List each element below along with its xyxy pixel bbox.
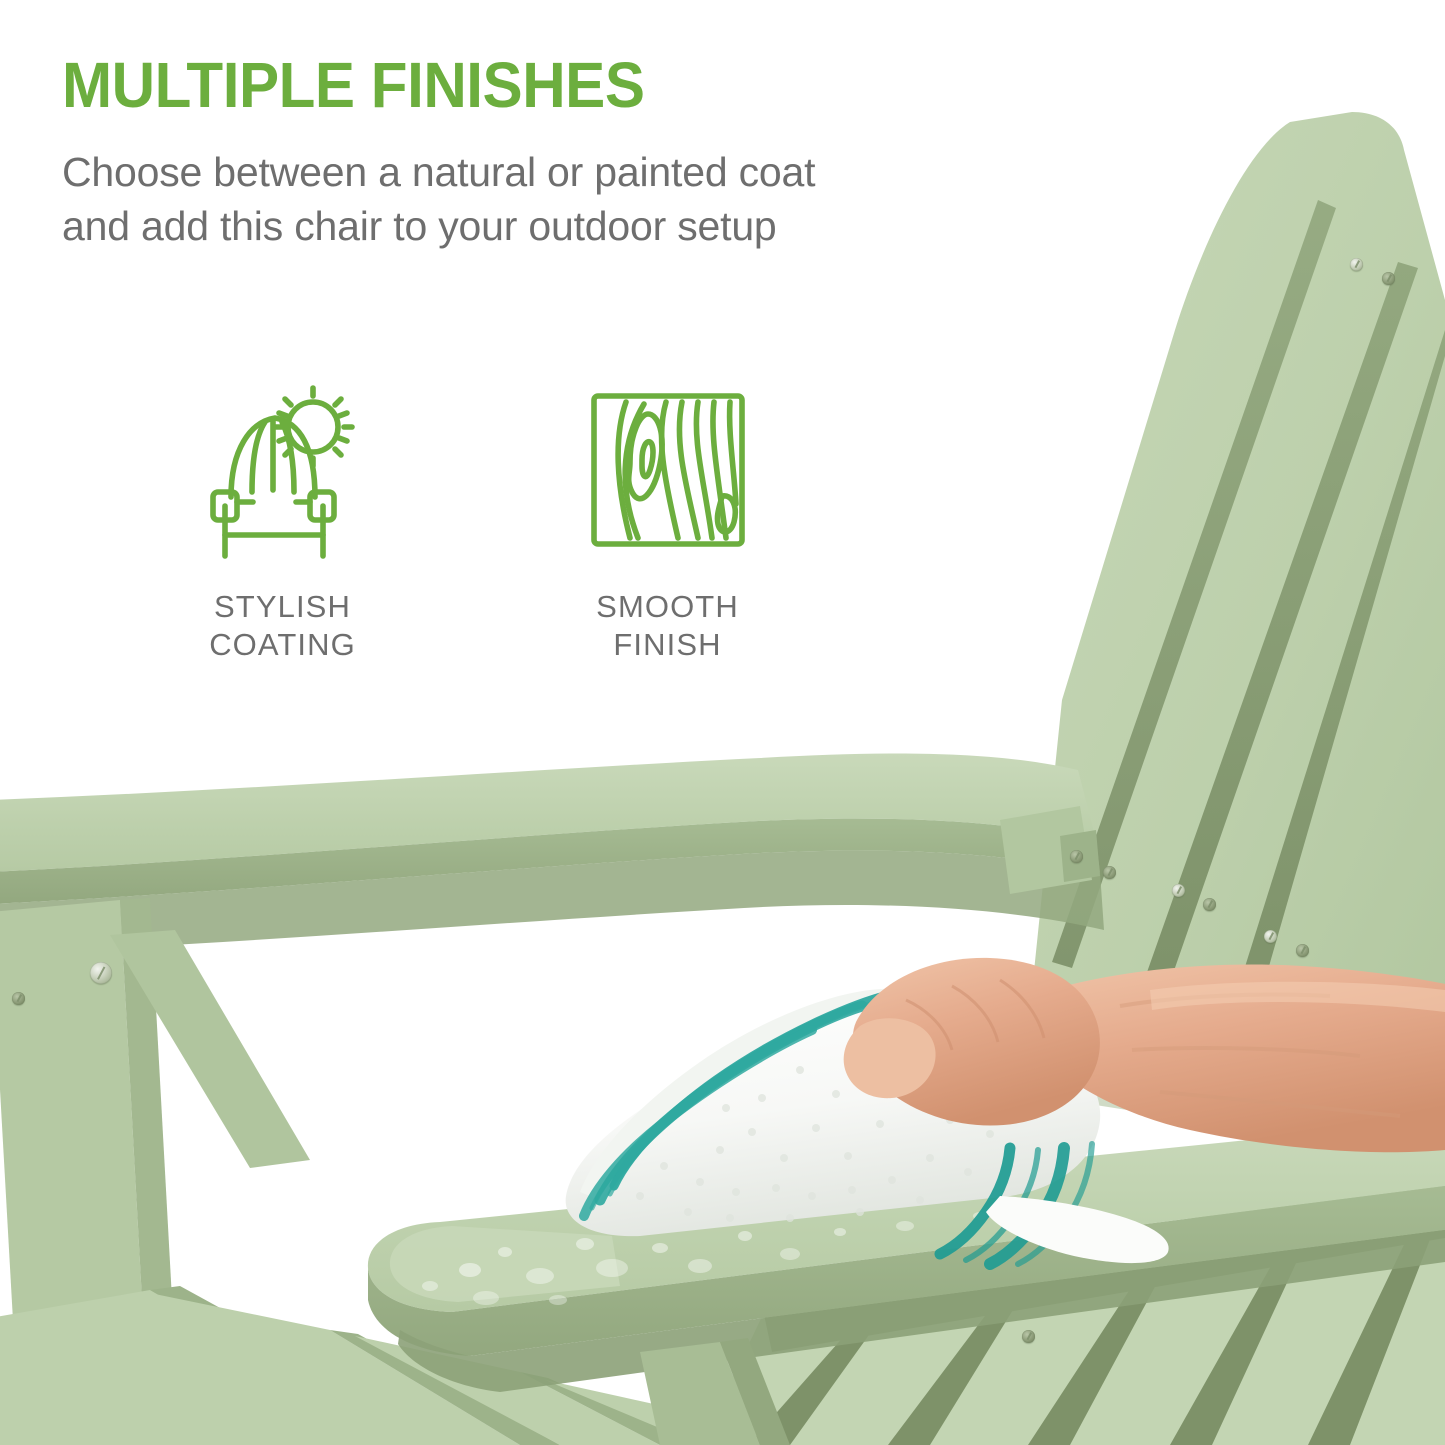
chair-back xyxy=(1030,112,1445,1080)
feature-caption-line-1: STYLISH xyxy=(209,588,356,626)
screw-head xyxy=(1382,272,1395,285)
screw-head xyxy=(1203,898,1216,911)
headline-block: MULTIPLE FINISHES Choose between a natur… xyxy=(62,52,1142,253)
feature-caption-line-2: FINISH xyxy=(596,626,739,664)
page-title: MULTIPLE FINISHES xyxy=(62,52,1077,119)
subtitle-line-1: Choose between a natural or painted coat xyxy=(62,145,1102,199)
feature-caption-line-2: COATING xyxy=(209,626,356,664)
screw-head xyxy=(1264,930,1277,943)
screw-head xyxy=(1350,258,1363,271)
feature-caption: STYLISH COATING xyxy=(209,588,356,664)
wood-grain-icon xyxy=(586,370,750,570)
feature-caption: SMOOTH FINISH xyxy=(596,588,739,664)
screw-head xyxy=(1070,850,1083,863)
feature-caption-line-1: SMOOTH xyxy=(596,588,739,626)
screw-head xyxy=(1296,944,1309,957)
adirondack-chair-sun-icon xyxy=(195,370,371,570)
feature-list: STYLISH COATING xyxy=(150,370,800,664)
screw-head xyxy=(1022,1330,1035,1343)
screw-head xyxy=(1172,884,1185,897)
screw-head xyxy=(90,962,112,984)
feature-item-smooth-finish: SMOOTH FINISH xyxy=(535,370,800,664)
subtitle-line-2: and add this chair to your outdoor setup xyxy=(62,199,1102,253)
product-feature-banner: MULTIPLE FINISHES Choose between a natur… xyxy=(0,0,1445,1445)
page-subtitle: Choose between a natural or painted coat… xyxy=(62,145,1102,253)
feature-item-stylish-coating: STYLISH COATING xyxy=(150,370,415,664)
screw-head xyxy=(1103,866,1116,879)
screw-head xyxy=(12,992,25,1005)
chair-top-armrest xyxy=(0,754,1104,954)
